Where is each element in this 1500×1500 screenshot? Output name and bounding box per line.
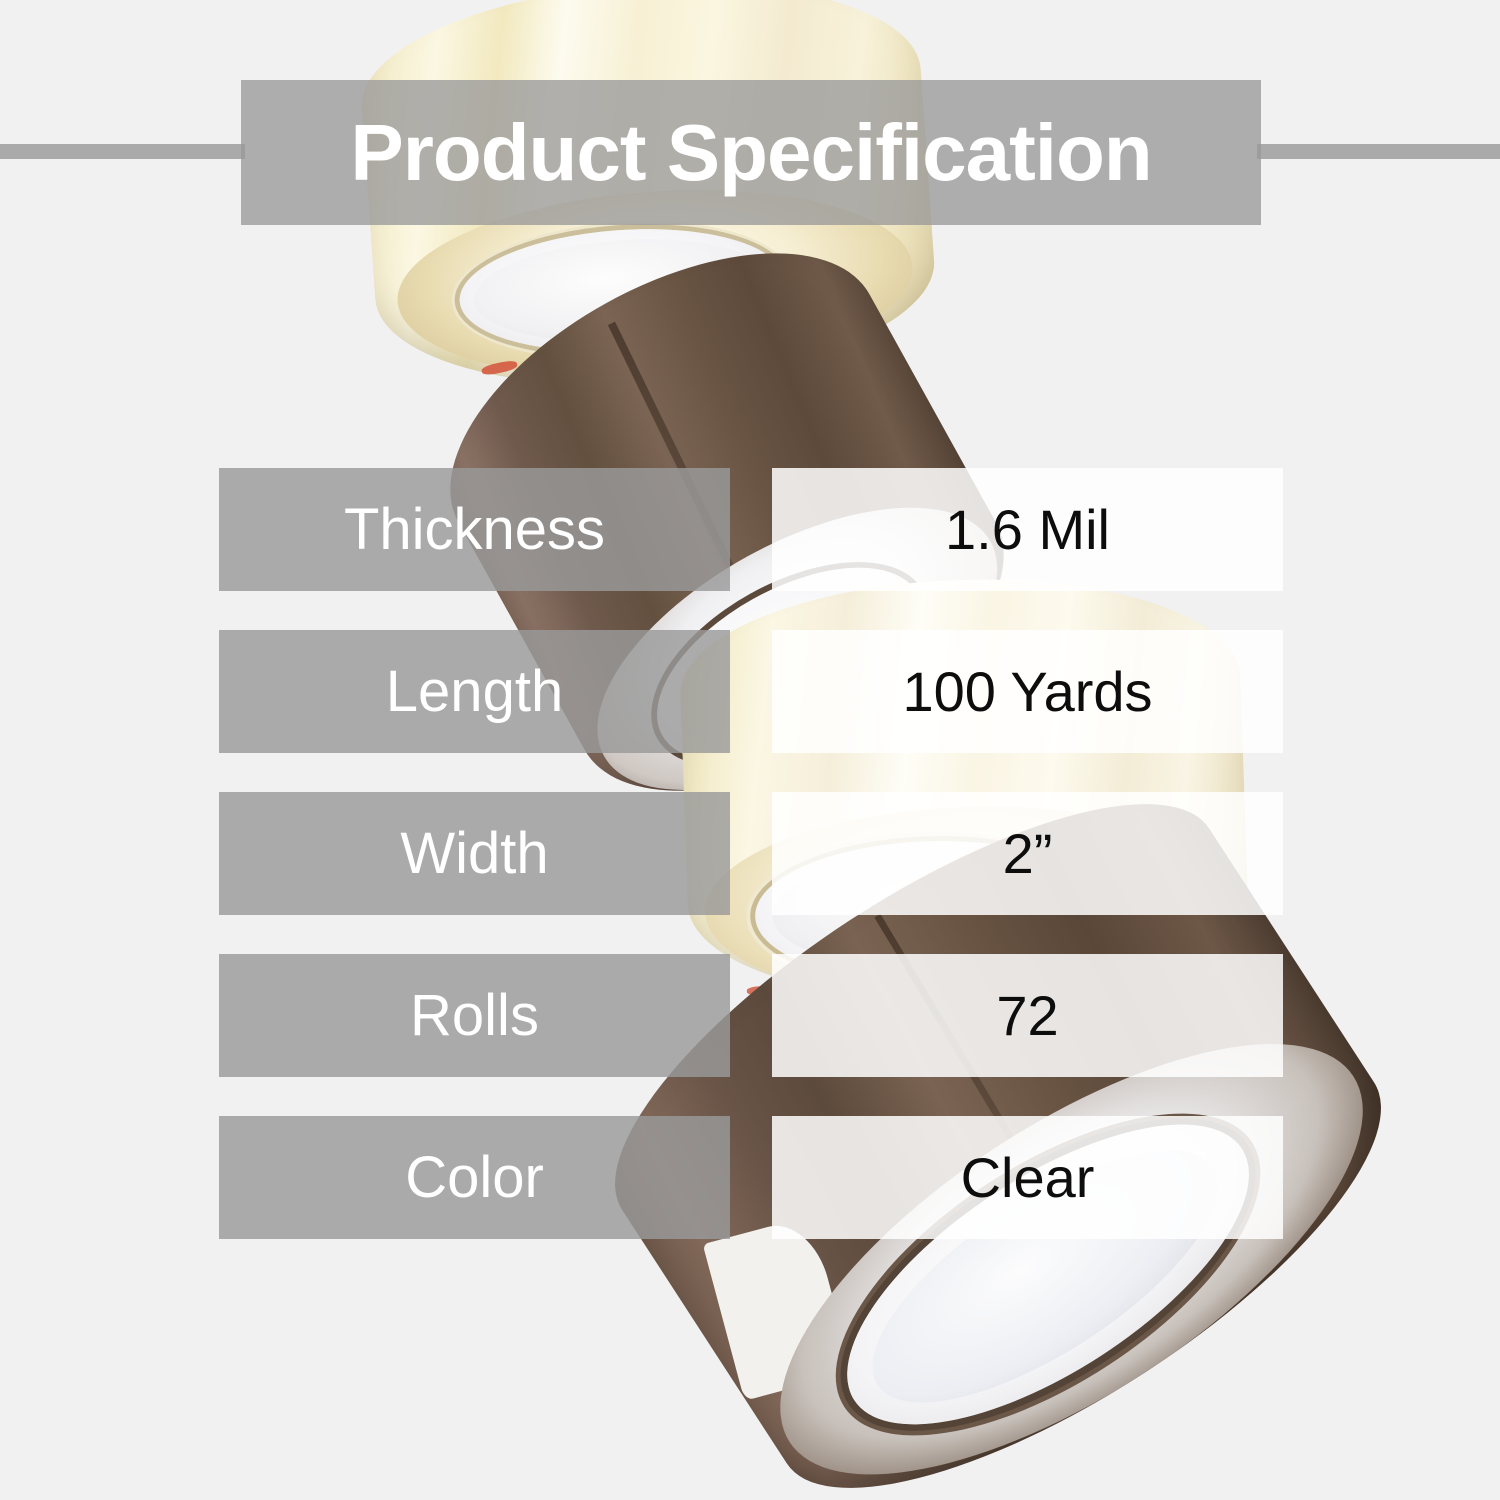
- spec-label-cell-rolls: Rolls: [219, 954, 730, 1077]
- spec-row-thickness: Thickness 1.6 Mil: [219, 468, 1283, 591]
- spec-value-rolls: 72: [996, 988, 1058, 1044]
- spec-value-cell-rolls: 72: [772, 954, 1283, 1077]
- spec-label-rolls: Rolls: [410, 987, 539, 1045]
- spec-row-color: Color Clear: [219, 1116, 1283, 1239]
- spec-label-cell-length: Length: [219, 630, 730, 753]
- spec-row-rolls: Rolls 72: [219, 954, 1283, 1077]
- spec-label-cell-thickness: Thickness: [219, 468, 730, 591]
- specification-table: Thickness 1.6 Mil Length 100 Yards Width…: [219, 468, 1283, 1239]
- spec-row-length: Length 100 Yards: [219, 630, 1283, 753]
- spec-label-thickness: Thickness: [344, 501, 605, 559]
- spec-value-cell-color: Clear: [772, 1116, 1283, 1239]
- spec-label-cell-color: Color: [219, 1116, 730, 1239]
- title-rule-left: [0, 144, 245, 159]
- spec-value-cell-thickness: 1.6 Mil: [772, 468, 1283, 591]
- spec-label-length: Length: [386, 663, 563, 721]
- spec-value-length: 100 Yards: [902, 664, 1152, 720]
- spec-value-color: Clear: [961, 1150, 1095, 1206]
- spec-row-width: Width 2”: [219, 792, 1283, 915]
- spec-label-cell-width: Width: [219, 792, 730, 915]
- spec-value-thickness: 1.6 Mil: [945, 502, 1110, 558]
- spec-value-cell-length: 100 Yards: [772, 630, 1283, 753]
- product-specification-infographic: Product Specification Thickness 1.6 Mil …: [0, 0, 1500, 1500]
- spec-value-cell-width: 2”: [772, 792, 1283, 915]
- title-rule-right: [1257, 144, 1500, 159]
- spec-value-width: 2”: [1003, 826, 1053, 882]
- title-banner: Product Specification: [241, 80, 1261, 225]
- page-title: Product Specification: [350, 113, 1151, 193]
- spec-label-color: Color: [405, 1149, 544, 1207]
- spec-label-width: Width: [400, 825, 548, 883]
